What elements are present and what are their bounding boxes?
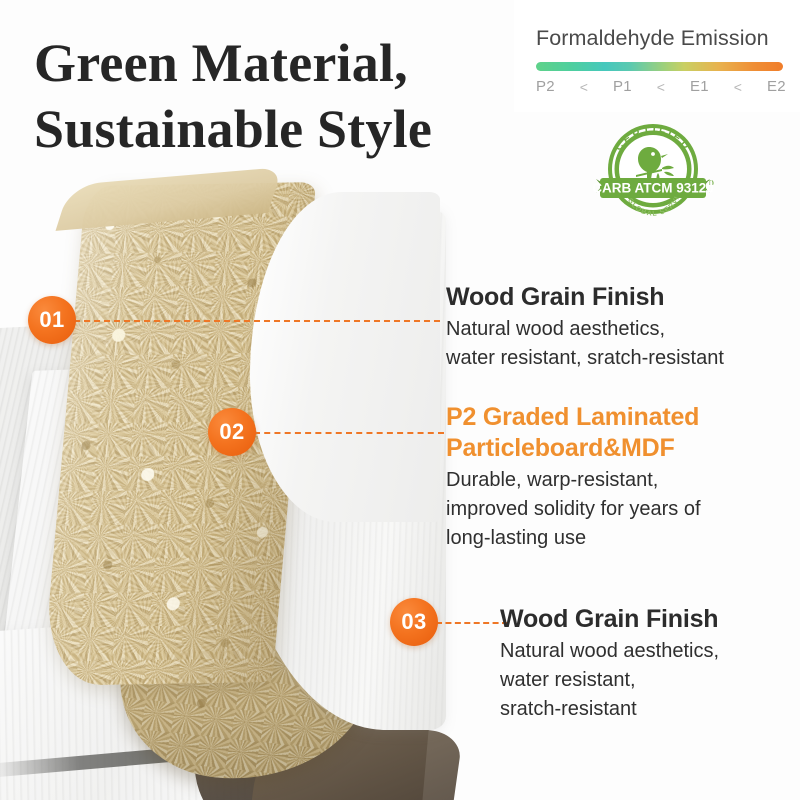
- emission-panel-heading: Formaldehyde Emission: [536, 26, 769, 51]
- callout-body-03: Natural wood aesthetics, water resistant…: [500, 637, 796, 724]
- callout-body-line: Natural wood aesthetics,: [446, 315, 794, 344]
- emission-label-e2: E2: [767, 78, 786, 95]
- infographic-page: Green Material, Sustainable Style Formal…: [0, 0, 800, 800]
- emission-separator-2: <: [657, 79, 665, 95]
- callout-leader-line-03: [436, 622, 508, 624]
- callout-body-line: Natural wood aesthetics,: [500, 637, 796, 666]
- title-line-2: Sustainable Style: [34, 96, 554, 162]
- callout-body-line: water resistant, sratch-resistant: [446, 344, 794, 373]
- emission-label-e1: E1: [690, 78, 709, 95]
- callout-body-line: improved solidity for years of: [446, 495, 796, 524]
- emission-label-p2: P2: [536, 78, 555, 95]
- callout-badge-01[interactable]: 01: [28, 296, 76, 344]
- formaldehyde-emission-panel: Formaldehyde Emission P2 < P1 < E1 < E2: [514, 0, 800, 112]
- badge-banner-text: CARB ATCM 93120: [592, 181, 714, 196]
- callout-heading-01: Wood Grain Finish: [446, 282, 794, 313]
- emission-separator-1: <: [580, 79, 588, 95]
- callout-body-line: long-lasting use: [446, 524, 796, 553]
- emission-scale-labels: P2 < P1 < E1 < E2: [536, 78, 786, 95]
- emission-label-p1: P1: [613, 78, 632, 95]
- callout-badge-03[interactable]: 03: [390, 598, 438, 646]
- callout-text-02: P2 Graded Laminated Particleboard&MDF Du…: [446, 402, 796, 553]
- callout-text-03: Wood Grain Finish Natural wood aesthetic…: [500, 604, 796, 724]
- callout-body-line: Durable, warp-resistant,: [446, 466, 796, 495]
- callout-body-01: Natural wood aesthetics, water resistant…: [446, 315, 794, 373]
- callout-body-02: Durable, warp-resistant, improved solidi…: [446, 466, 796, 553]
- badge-ribbon: CARB ATCM 93120 TM: [592, 178, 714, 198]
- emission-gradient-bar: [536, 62, 783, 71]
- callout-leader-line-01: [74, 320, 440, 322]
- title-line-1: Green Material,: [34, 30, 554, 96]
- callout-text-01: Wood Grain Finish Natural wood aesthetic…: [446, 282, 794, 373]
- carb-certification-badge: CERTIFIED CARB ATCM 93120 TM SCS GLOBAL …: [592, 117, 714, 221]
- badge-trademark: TM: [708, 181, 714, 187]
- callout-leader-line-02: [254, 432, 444, 434]
- emission-separator-3: <: [734, 79, 742, 95]
- callout-heading-02: P2 Graded Laminated Particleboard&MDF: [446, 402, 796, 464]
- product-image: [0, 190, 470, 800]
- callout-badge-02[interactable]: 02: [208, 408, 256, 456]
- laminate-top-right-sheet: [250, 192, 440, 522]
- page-title: Green Material, Sustainable Style: [34, 30, 554, 162]
- callout-body-line: water resistant,: [500, 666, 796, 695]
- callout-heading-03: Wood Grain Finish: [500, 604, 796, 635]
- callout-body-line: sratch-resistant: [500, 695, 796, 724]
